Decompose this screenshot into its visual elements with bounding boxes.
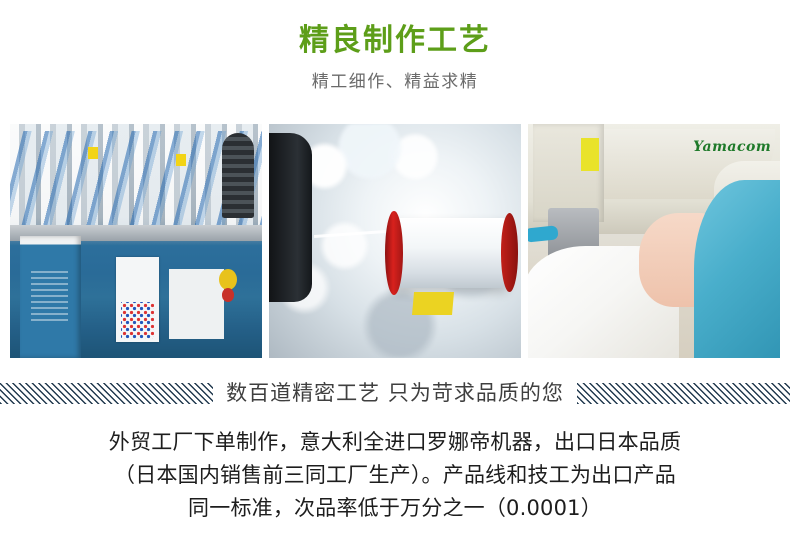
yarn-cone bbox=[392, 218, 508, 288]
machine-arm bbox=[269, 133, 312, 301]
yellow-marker-left bbox=[88, 147, 98, 159]
warning-label bbox=[581, 138, 599, 171]
photo-sewing-operator: Yamacom bbox=[528, 124, 780, 358]
emergency-knob bbox=[219, 269, 237, 290]
hatch-stripe-right bbox=[577, 383, 790, 404]
photo-thread-spool bbox=[269, 124, 521, 358]
description-line-3: 同一标准，次品率低于万分之一（0.0001） bbox=[0, 492, 790, 525]
divider-caption: 数百道精密工艺 只为苛求品质的您 bbox=[213, 381, 577, 405]
page-title: 精良制作工艺 bbox=[0, 22, 790, 60]
promo-page: 精良制作工艺 精工细作、精益求精 bbox=[0, 0, 790, 539]
description-line-1: 外贸工厂下单制作，意大利全进口罗娜帝机器，出口日本品质 bbox=[0, 426, 790, 459]
yellow-tag bbox=[412, 292, 454, 315]
control-panel-right bbox=[169, 269, 224, 339]
hatch-stripe-left bbox=[0, 383, 213, 404]
operator-sleeve bbox=[694, 180, 780, 358]
spool-cap-left bbox=[385, 211, 403, 295]
description-line-2: （日本国内销售前三同工厂生产）。产品线和技工为出口产品 bbox=[0, 459, 790, 492]
cable-chain bbox=[222, 133, 255, 217]
indicator-lights bbox=[121, 302, 154, 339]
description-paragraph: 外贸工厂下单制作，意大利全进口罗娜帝机器，出口日本品质 （日本国内销售前三同工厂… bbox=[0, 426, 790, 525]
page-subtitle: 精工细作、精益求精 bbox=[0, 69, 790, 95]
machine-brand-logo: Yamacom bbox=[692, 136, 773, 159]
photo-knitting-machines bbox=[10, 124, 262, 358]
photo-gallery: Yamacom bbox=[10, 124, 780, 358]
yellow-marker-right bbox=[176, 154, 186, 166]
red-button bbox=[222, 288, 235, 302]
section-divider: 数百道精密工艺 只为苛求品质的您 bbox=[0, 381, 790, 405]
machine-cabinet bbox=[20, 236, 80, 358]
page-header: 精良制作工艺 精工细作、精益求精 bbox=[0, 0, 790, 95]
